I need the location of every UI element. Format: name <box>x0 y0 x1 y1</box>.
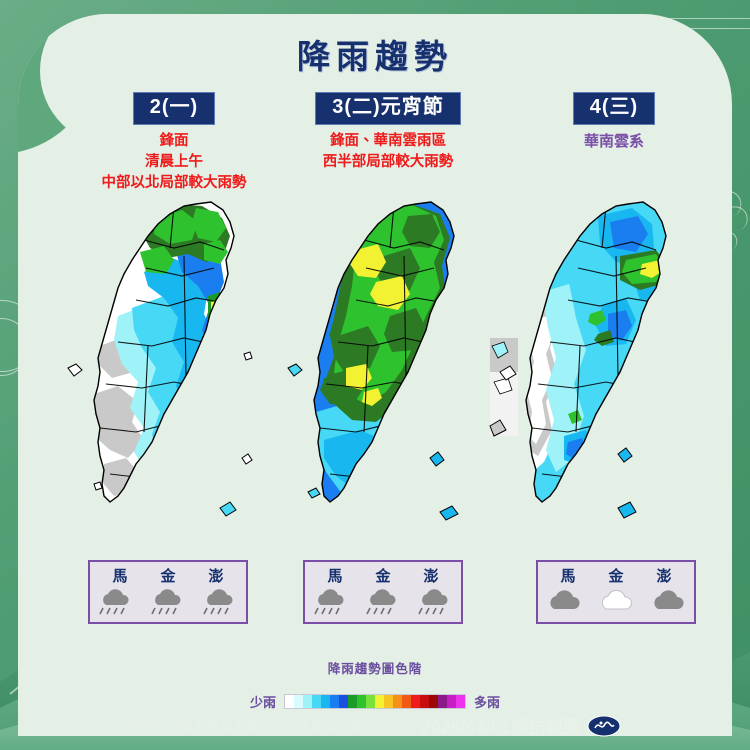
column-header-day3: 3(二)元宵節 鋒面、華南雲雨區 西半部局部較大雨勢 <box>270 92 506 173</box>
outlying-islands-panel-day4[interactable]: 馬 金 澎 <box>536 560 696 624</box>
rain-cloud-icon <box>311 587 351 617</box>
footer-disclaimer: 降雨預報有其預報不確定性，此圖僅供趨勢說明。 <box>129 716 415 735</box>
column-header-day2: 2(一) 鋒面 清晨上午 中部以北局部較大雨勢 <box>56 92 292 194</box>
island-label-kinmen: 金 <box>375 565 390 586</box>
color-scale-step-3 <box>312 695 321 708</box>
color-scale-step-17 <box>438 695 447 708</box>
island-label-matsu: 馬 <box>560 565 575 586</box>
color-scale-step-2 <box>303 695 312 708</box>
color-scale-step-10 <box>375 695 384 708</box>
island-icons-day4 <box>538 587 694 617</box>
color-scale-step-16 <box>429 695 438 708</box>
badge-wrap-day4: 4(三) <box>496 92 732 125</box>
island-label-penghu: 澎 <box>656 565 671 586</box>
badge-wrap-day2: 2(一) <box>56 92 292 125</box>
color-scale-bar <box>284 694 466 709</box>
subtitle-day4: 華南雲系 <box>496 131 732 153</box>
color-scale-row: 少雨 多雨 <box>18 692 732 711</box>
island-label-penghu: 澎 <box>423 565 438 586</box>
taiwan-rainfall-map-day4[interactable] <box>480 196 730 536</box>
rain-cloud-icon <box>200 587 240 617</box>
island-label-matsu: 馬 <box>112 565 127 586</box>
cloud-icon <box>544 587 584 617</box>
color-scale-step-19 <box>456 695 465 708</box>
date-badge-day2[interactable]: 2(一) <box>133 92 215 125</box>
white-cloud-icon <box>596 587 636 617</box>
color-scale-step-12 <box>393 695 402 708</box>
rain-cloud-icon <box>96 587 136 617</box>
color-scale-step-4 <box>321 695 330 708</box>
page-title: 降雨趨勢 <box>18 30 732 78</box>
color-scale-step-13 <box>402 695 411 708</box>
rain-cloud-icon <box>148 587 188 617</box>
color-scale-title: 降雨趨勢圖色階 <box>18 658 732 677</box>
island-icons-day3 <box>305 587 461 617</box>
subtitle-day3: 鋒面、華南雲雨區 西半部局部較大雨勢 <box>270 131 506 173</box>
color-scale-step-11 <box>384 695 393 708</box>
subtitle-day2: 鋒面 清晨上午 中部以北局部較大雨勢 <box>56 131 292 194</box>
color-scale-step-1 <box>294 695 303 708</box>
cloud-icon <box>648 587 688 617</box>
color-scale-step-5 <box>330 695 339 708</box>
outlying-islands-panel-day2[interactable]: 馬 金 澎 <box>88 560 248 624</box>
date-badge-day4[interactable]: 4(三) <box>573 92 655 125</box>
scale-high-label: 多雨 <box>474 692 500 711</box>
footer-date: 2026/03/01採訪製圖 <box>421 713 581 738</box>
rain-cloud-icon <box>415 587 455 617</box>
island-label-matsu: 馬 <box>327 565 342 586</box>
content-card: 降雨趨勢 2(一) 鋒面 清晨上午 中部以北局部較大雨勢 3(二)元宵節 鋒面、… <box>18 14 732 736</box>
color-scale-step-6 <box>339 695 348 708</box>
color-scale-step-8 <box>357 695 366 708</box>
color-scale-step-0 <box>285 695 294 708</box>
color-scale-step-15 <box>420 695 429 708</box>
island-labels-day3: 馬 金 澎 <box>305 562 461 586</box>
color-scale-step-18 <box>447 695 456 708</box>
island-label-kinmen: 金 <box>608 565 623 586</box>
scale-low-label: 少雨 <box>250 692 276 711</box>
island-labels-day2: 馬 金 澎 <box>90 562 246 586</box>
taiwan-rainfall-map-day2[interactable] <box>48 196 298 536</box>
island-label-penghu: 澎 <box>208 565 223 586</box>
island-labels-day4: 馬 金 澎 <box>538 562 694 586</box>
column-header-day4: 4(三) 華南雲系 <box>496 92 732 153</box>
color-scale-step-9 <box>366 695 375 708</box>
island-icons-day2 <box>90 587 246 617</box>
color-scale-step-7 <box>348 695 357 708</box>
outlying-islands-panel-day3[interactable]: 馬 金 澎 <box>303 560 463 624</box>
rain-cloud-icon <box>363 587 403 617</box>
cwa-logo <box>587 715 621 737</box>
page-content: 降雨趨勢 2(一) 鋒面 清晨上午 中部以北局部較大雨勢 3(二)元宵節 鋒面、… <box>18 14 732 736</box>
date-badge-day3[interactable]: 3(二)元宵節 <box>315 92 460 125</box>
footer: 降雨預報有其預報不確定性，此圖僅供趨勢說明。 2026/03/01採訪製圖 <box>0 713 750 738</box>
badge-wrap-day3: 3(二)元宵節 <box>270 92 506 125</box>
island-label-kinmen: 金 <box>160 565 175 586</box>
color-scale-step-14 <box>411 695 420 708</box>
